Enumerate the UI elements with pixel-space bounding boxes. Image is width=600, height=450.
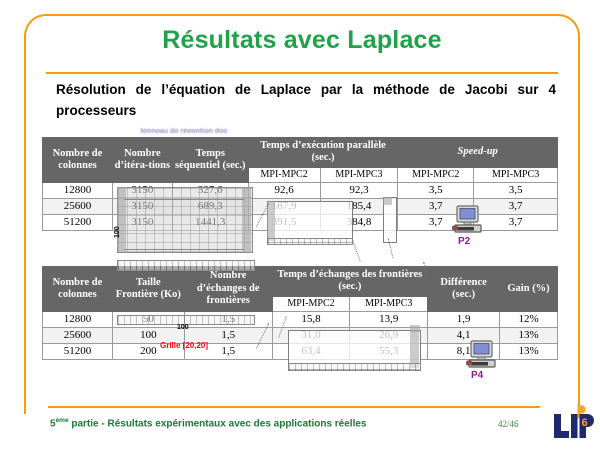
table-row: 25600 3150 689,3 187,9 185,4 3,7 3,7 <box>43 198 558 214</box>
th-nombre-iterations: Nombre d’itéra-tions <box>112 138 172 183</box>
cell: 25600 <box>43 327 113 343</box>
cell: 689,3 <box>172 198 248 214</box>
cell: 55,3 <box>350 343 428 359</box>
svg-text:6: 6 <box>581 417 587 429</box>
th-nombre-colonnes: Nombre de colonnes <box>43 138 113 183</box>
cell: 3150 <box>112 182 172 198</box>
lip-logo: 6 <box>551 404 595 446</box>
th-temps-sequentiel: Temps séquentiel (sec.) <box>172 138 248 183</box>
th2-gain: Gain (%) <box>500 267 558 312</box>
table-row: 12800 3150 327,6 92,6 92,3 3,5 3,5 <box>43 182 558 198</box>
cell: 3,5 <box>398 182 474 198</box>
th2-temps-echanges: Temps d’échanges des frontières (sec.) <box>272 267 428 297</box>
th2-taille-frontiere: Taille Frontière (Ko) <box>112 267 184 312</box>
cell: 12800 <box>43 182 113 198</box>
cell: 3,5 <box>474 182 558 198</box>
cell: 13% <box>500 327 558 343</box>
cell: 391,5 <box>248 214 320 230</box>
table-row: 12800 50 1,5 15,8 13,9 1,9 12% <box>43 311 558 327</box>
footer-part-text: partie - Résultats expérimentaux avec de… <box>69 418 367 429</box>
pc-label-p4: P4 <box>471 370 483 381</box>
results-table-frontieres: Nombre de colonnes Taille Frontière (Ko)… <box>42 266 558 360</box>
table-row: 51200 200 1,5 63,4 55,3 8,1 13% <box>43 343 558 359</box>
cell: 13% <box>500 343 558 359</box>
footer-divider <box>48 406 540 408</box>
grille-label: Grille [20,20] <box>160 341 208 350</box>
table-row: 51200 3150 1441,3 391,5 384,8 3,7 3,7 <box>43 214 558 230</box>
ghost-overlay-text: tonnoau do réoontion doo <box>132 128 236 137</box>
page-title: Résultats avec Laplace <box>24 26 580 55</box>
cell: 3,7 <box>474 214 558 230</box>
cell: 384,8 <box>320 214 398 230</box>
cell: 1,5 <box>184 311 272 327</box>
footer-caption: 5ème partie - Résultats expérimentaux av… <box>50 417 366 429</box>
ghost-leader-b <box>352 240 360 261</box>
th-par-mpi-mpc2: MPI-MPC2 <box>248 167 320 182</box>
cell: 3150 <box>112 214 172 230</box>
cell: 1,9 <box>428 311 500 327</box>
slide-subtitle: Résolution de l’équation de Laplace par … <box>56 80 556 122</box>
slide-canvas: Résultats avec Laplace Résolution de l’é… <box>0 0 600 450</box>
cell: 4,1 <box>428 327 500 343</box>
results-table-speedup: Nombre de colonnes Nombre d’itéra-tions … <box>42 137 558 231</box>
footer-part-ordinal: ème <box>56 417 69 424</box>
cell: 92,3 <box>320 182 398 198</box>
th-spd-mpi-mpc3: MPI-MPC3 <box>474 167 558 182</box>
cell: 51200 <box>43 214 113 230</box>
th-speed-up: Speed-up <box>398 138 558 168</box>
th-par-mpi-mpc3: MPI-MPC3 <box>320 167 398 182</box>
cell: 12800 <box>43 311 113 327</box>
th-spd-mpi-mpc2: MPI-MPC2 <box>398 167 474 182</box>
ghost-leader-c <box>388 238 394 258</box>
cell: 13,9 <box>350 311 428 327</box>
page-number: 42/46 <box>498 419 519 429</box>
cell: 25600 <box>43 198 113 214</box>
pc-label-p2: P2 <box>458 236 470 247</box>
cell: 50 <box>112 311 184 327</box>
th2-nombre-colonnes: Nombre de colonnes <box>43 267 113 312</box>
table-row: 25600 100 1,5 31,0 26,9 4,1 13% <box>43 327 558 343</box>
cell: 3,7 <box>398 198 474 214</box>
frame-left-tail <box>24 396 26 414</box>
title-divider <box>46 72 558 74</box>
table2-header-row: Nombre de colonnes Taille Frontière (Ko)… <box>43 267 558 297</box>
cell: 12% <box>500 311 558 327</box>
cell: 3150 <box>112 198 172 214</box>
ghost-hatch-f <box>288 363 421 371</box>
cell: 31,0 <box>272 327 350 343</box>
cell: 26,9 <box>350 327 428 343</box>
th2-nombre-echanges: Nombre d’échanges de frontières <box>184 267 272 312</box>
ghost-line-a2 <box>124 249 244 250</box>
cell: 63,4 <box>272 343 350 359</box>
cell: 3,7 <box>398 214 474 230</box>
cell: 8,1 <box>428 343 500 359</box>
cell: 187,9 <box>248 198 320 214</box>
ghost-hatch-b <box>267 238 353 245</box>
cell: 92,6 <box>248 182 320 198</box>
cell: 185,4 <box>320 198 398 214</box>
th2-difference: Différence (sec.) <box>428 267 500 312</box>
cell: 15,8 <box>272 311 350 327</box>
th2-ech-mpi-mpc3: MPI-MPC3 <box>350 296 428 311</box>
th-temps-execution-parallele: Temps d’exécution parallèle (sec.) <box>248 138 398 168</box>
cell: 327,6 <box>172 182 248 198</box>
cell: 3,7 <box>474 198 558 214</box>
th2-ech-mpi-mpc2: MPI-MPC2 <box>272 296 350 311</box>
cell: 1441,3 <box>172 214 248 230</box>
table1-header-row: Nombre de colonnes Nombre d’itéra-tions … <box>43 138 558 168</box>
cell: 51200 <box>43 343 113 359</box>
